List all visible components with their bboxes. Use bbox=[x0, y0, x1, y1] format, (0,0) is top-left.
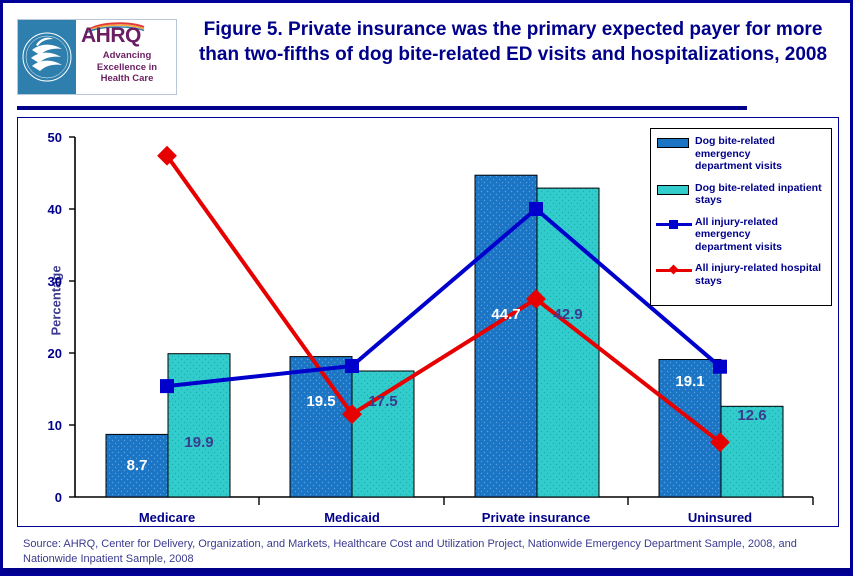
line-all-injury-ed-visits bbox=[167, 209, 720, 386]
legend-label-line-2: stays bbox=[695, 194, 822, 207]
value-label-uninsured-ed: 19.1 bbox=[655, 373, 725, 390]
chart-legend: Dog bite-related emergency department vi… bbox=[650, 128, 832, 306]
ahrq-wordmark: AHRQ Advancing Excellence in Health Care bbox=[76, 20, 176, 94]
legend-label-line-2: stays bbox=[695, 275, 821, 288]
legend-label-line-1: Dog bite-related emergency bbox=[695, 135, 826, 160]
legend-label-line-1: All injury-related hospital bbox=[695, 262, 821, 275]
chart-canvas: Percentage 50 40 30 20 10 0 bbox=[18, 118, 840, 528]
legend-label-line-1: All injury-related emergency bbox=[695, 216, 826, 241]
value-label-medicare-ed: 8.7 bbox=[102, 457, 172, 474]
value-label-uninsured-inpatient: 12.6 bbox=[717, 407, 787, 424]
tagline-line-2: Excellence in bbox=[80, 62, 174, 74]
tagline-line-3: Health Care bbox=[80, 73, 174, 85]
legend-item-dog-bite-inpatient: Dog bite-related inpatient stays bbox=[656, 182, 826, 207]
legend-item-all-injury-ed: All injury-related emergency department … bbox=[656, 216, 826, 254]
x-label-uninsured: Uninsured bbox=[660, 510, 780, 525]
x-label-private: Private insurance bbox=[461, 510, 611, 525]
value-label-medicare-inpatient: 19.9 bbox=[164, 434, 234, 451]
ahrq-tagline: Advancing Excellence in Health Care bbox=[80, 50, 174, 85]
legend-key-blue-line-square-icon bbox=[656, 217, 692, 231]
legend-label-dog-bite-ed: Dog bite-related emergency department vi… bbox=[695, 135, 826, 173]
value-label-medicaid-inpatient: 17.5 bbox=[348, 393, 418, 410]
ahrq-logo: AHRQ Advancing Excellence in Health Care bbox=[17, 19, 177, 95]
bar-medicaid-inpatient bbox=[352, 371, 414, 497]
line-all-injury-hospital-stays bbox=[167, 156, 720, 443]
x-label-medicare: Medicare bbox=[107, 510, 227, 525]
x-label-medicaid: Medicaid bbox=[292, 510, 412, 525]
legend-label-line-2: department visits bbox=[695, 241, 826, 254]
value-label-medicaid-ed: 19.5 bbox=[286, 393, 356, 410]
figure-header: AHRQ Advancing Excellence in Health Care… bbox=[3, 3, 850, 103]
legend-label-all-injury-ed: All injury-related emergency department … bbox=[695, 216, 826, 254]
legend-label-all-injury-hospital: All injury-related hospital stays bbox=[695, 262, 821, 287]
legend-label-line-2: department visits bbox=[695, 160, 826, 173]
bar-private-ed bbox=[475, 175, 537, 497]
legend-label-dog-bite-inpatient: Dog bite-related inpatient stays bbox=[695, 182, 822, 207]
source-note: Source: AHRQ, Center for Delivery, Organ… bbox=[23, 537, 813, 567]
hhs-bird-icon bbox=[22, 24, 72, 90]
legend-item-dog-bite-ed: Dog bite-related emergency department vi… bbox=[656, 135, 826, 173]
legend-label-line-1: Dog bite-related inpatient bbox=[695, 182, 822, 195]
legend-key-red-line-diamond-icon bbox=[656, 263, 692, 277]
figure-page: AHRQ Advancing Excellence in Health Care… bbox=[0, 0, 853, 576]
legend-key-teal-swatch-icon bbox=[656, 183, 692, 197]
bar-medicaid-ed bbox=[290, 357, 352, 497]
chart-frame: Percentage 50 40 30 20 10 0 bbox=[17, 117, 839, 527]
tagline-line-1: Advancing bbox=[80, 50, 174, 62]
header-divider bbox=[17, 106, 747, 110]
ahrq-acronym-text: AHRQ bbox=[81, 24, 141, 48]
hhs-seal-icon bbox=[18, 20, 76, 94]
legend-key-blue-swatch-icon bbox=[656, 136, 692, 150]
value-label-private-ed: 44.7 bbox=[471, 306, 541, 323]
value-label-private-inpatient: 42.9 bbox=[533, 306, 603, 323]
footer-bar bbox=[3, 568, 850, 573]
bar-medicare-inpatient bbox=[168, 354, 230, 497]
figure-title: Figure 5. Private insurance was the prim… bbox=[193, 17, 833, 67]
legend-item-all-injury-hospital: All injury-related hospital stays bbox=[656, 262, 826, 287]
